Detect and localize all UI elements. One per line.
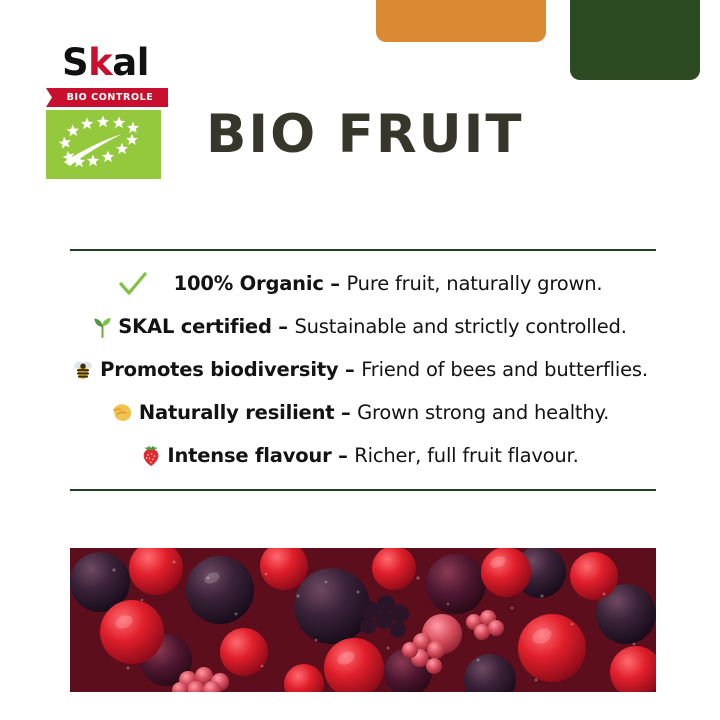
bio-controle-label: BIO CONTROLE	[61, 92, 154, 103]
eu-organic-leaf-icon	[46, 110, 161, 179]
list-item-rest: Pure fruit, naturally grown.	[346, 272, 602, 295]
flexed-biceps-icon	[111, 402, 133, 423]
skal-logo-lockup: Skal BIO CONTROLE	[46, 44, 176, 179]
decorative-block-orange	[376, 0, 546, 42]
bee-icon	[72, 359, 94, 381]
bio-controle-ribbon: BIO CONTROLE	[46, 88, 168, 107]
decorative-block-green	[570, 0, 700, 80]
list-item-rest: Sustainable and strictly controlled.	[294, 315, 626, 338]
seedling-icon	[93, 316, 112, 338]
divider-top	[70, 249, 656, 251]
list-item-text: Promotes biodiversity – Friend of bees a…	[100, 358, 648, 381]
list-item-lead: Naturally resilient –	[139, 401, 357, 424]
list-item-text: 100% Organic – Pure fruit, naturally gro…	[174, 272, 603, 295]
list-item-text: Naturally resilient – Grown strong and h…	[139, 401, 609, 424]
list-item: Intense flavour – Richer, full fruit fla…	[0, 434, 720, 477]
skal-wordmark: Skal	[46, 44, 176, 86]
list-item: Promotes biodiversity – Friend of bees a…	[0, 348, 720, 391]
list-item-lead: SKAL certified –	[118, 315, 294, 338]
list-item: Naturally resilient – Grown strong and h…	[0, 391, 720, 434]
list-item: SKAL certified – Sustainable and strictl…	[0, 305, 720, 348]
skal-wordmark-al: al	[112, 41, 149, 84]
list-item-lead: Promotes biodiversity –	[100, 358, 361, 381]
list-item-lead: 100% Organic –	[174, 272, 347, 295]
skal-wordmark-s: S	[62, 41, 88, 84]
list-item: 100% Organic – Pure fruit, naturally gro…	[0, 262, 720, 305]
divider-bottom	[70, 489, 656, 491]
feature-list: 100% Organic – Pure fruit, naturally gro…	[0, 262, 720, 477]
list-item-rest: Friend of bees and butterflies.	[361, 358, 648, 381]
poster-canvas: Skal BIO CONTROLE	[0, 0, 720, 720]
list-item-lead: Intense flavour –	[167, 444, 354, 467]
page-title: BIO FRUIT	[206, 108, 524, 161]
list-item-text: Intense flavour – Richer, full fruit fla…	[167, 444, 578, 467]
skal-wordmark-k: k	[88, 41, 112, 84]
check-mark-icon	[118, 271, 148, 297]
strawberry-icon	[141, 445, 161, 467]
list-item-rest: Grown strong and healthy.	[357, 401, 609, 424]
list-item-rest: Richer, full fruit flavour.	[354, 444, 578, 467]
mixed-frozen-berries-photo	[70, 548, 656, 692]
list-item-text: SKAL certified – Sustainable and strictl…	[118, 315, 626, 338]
